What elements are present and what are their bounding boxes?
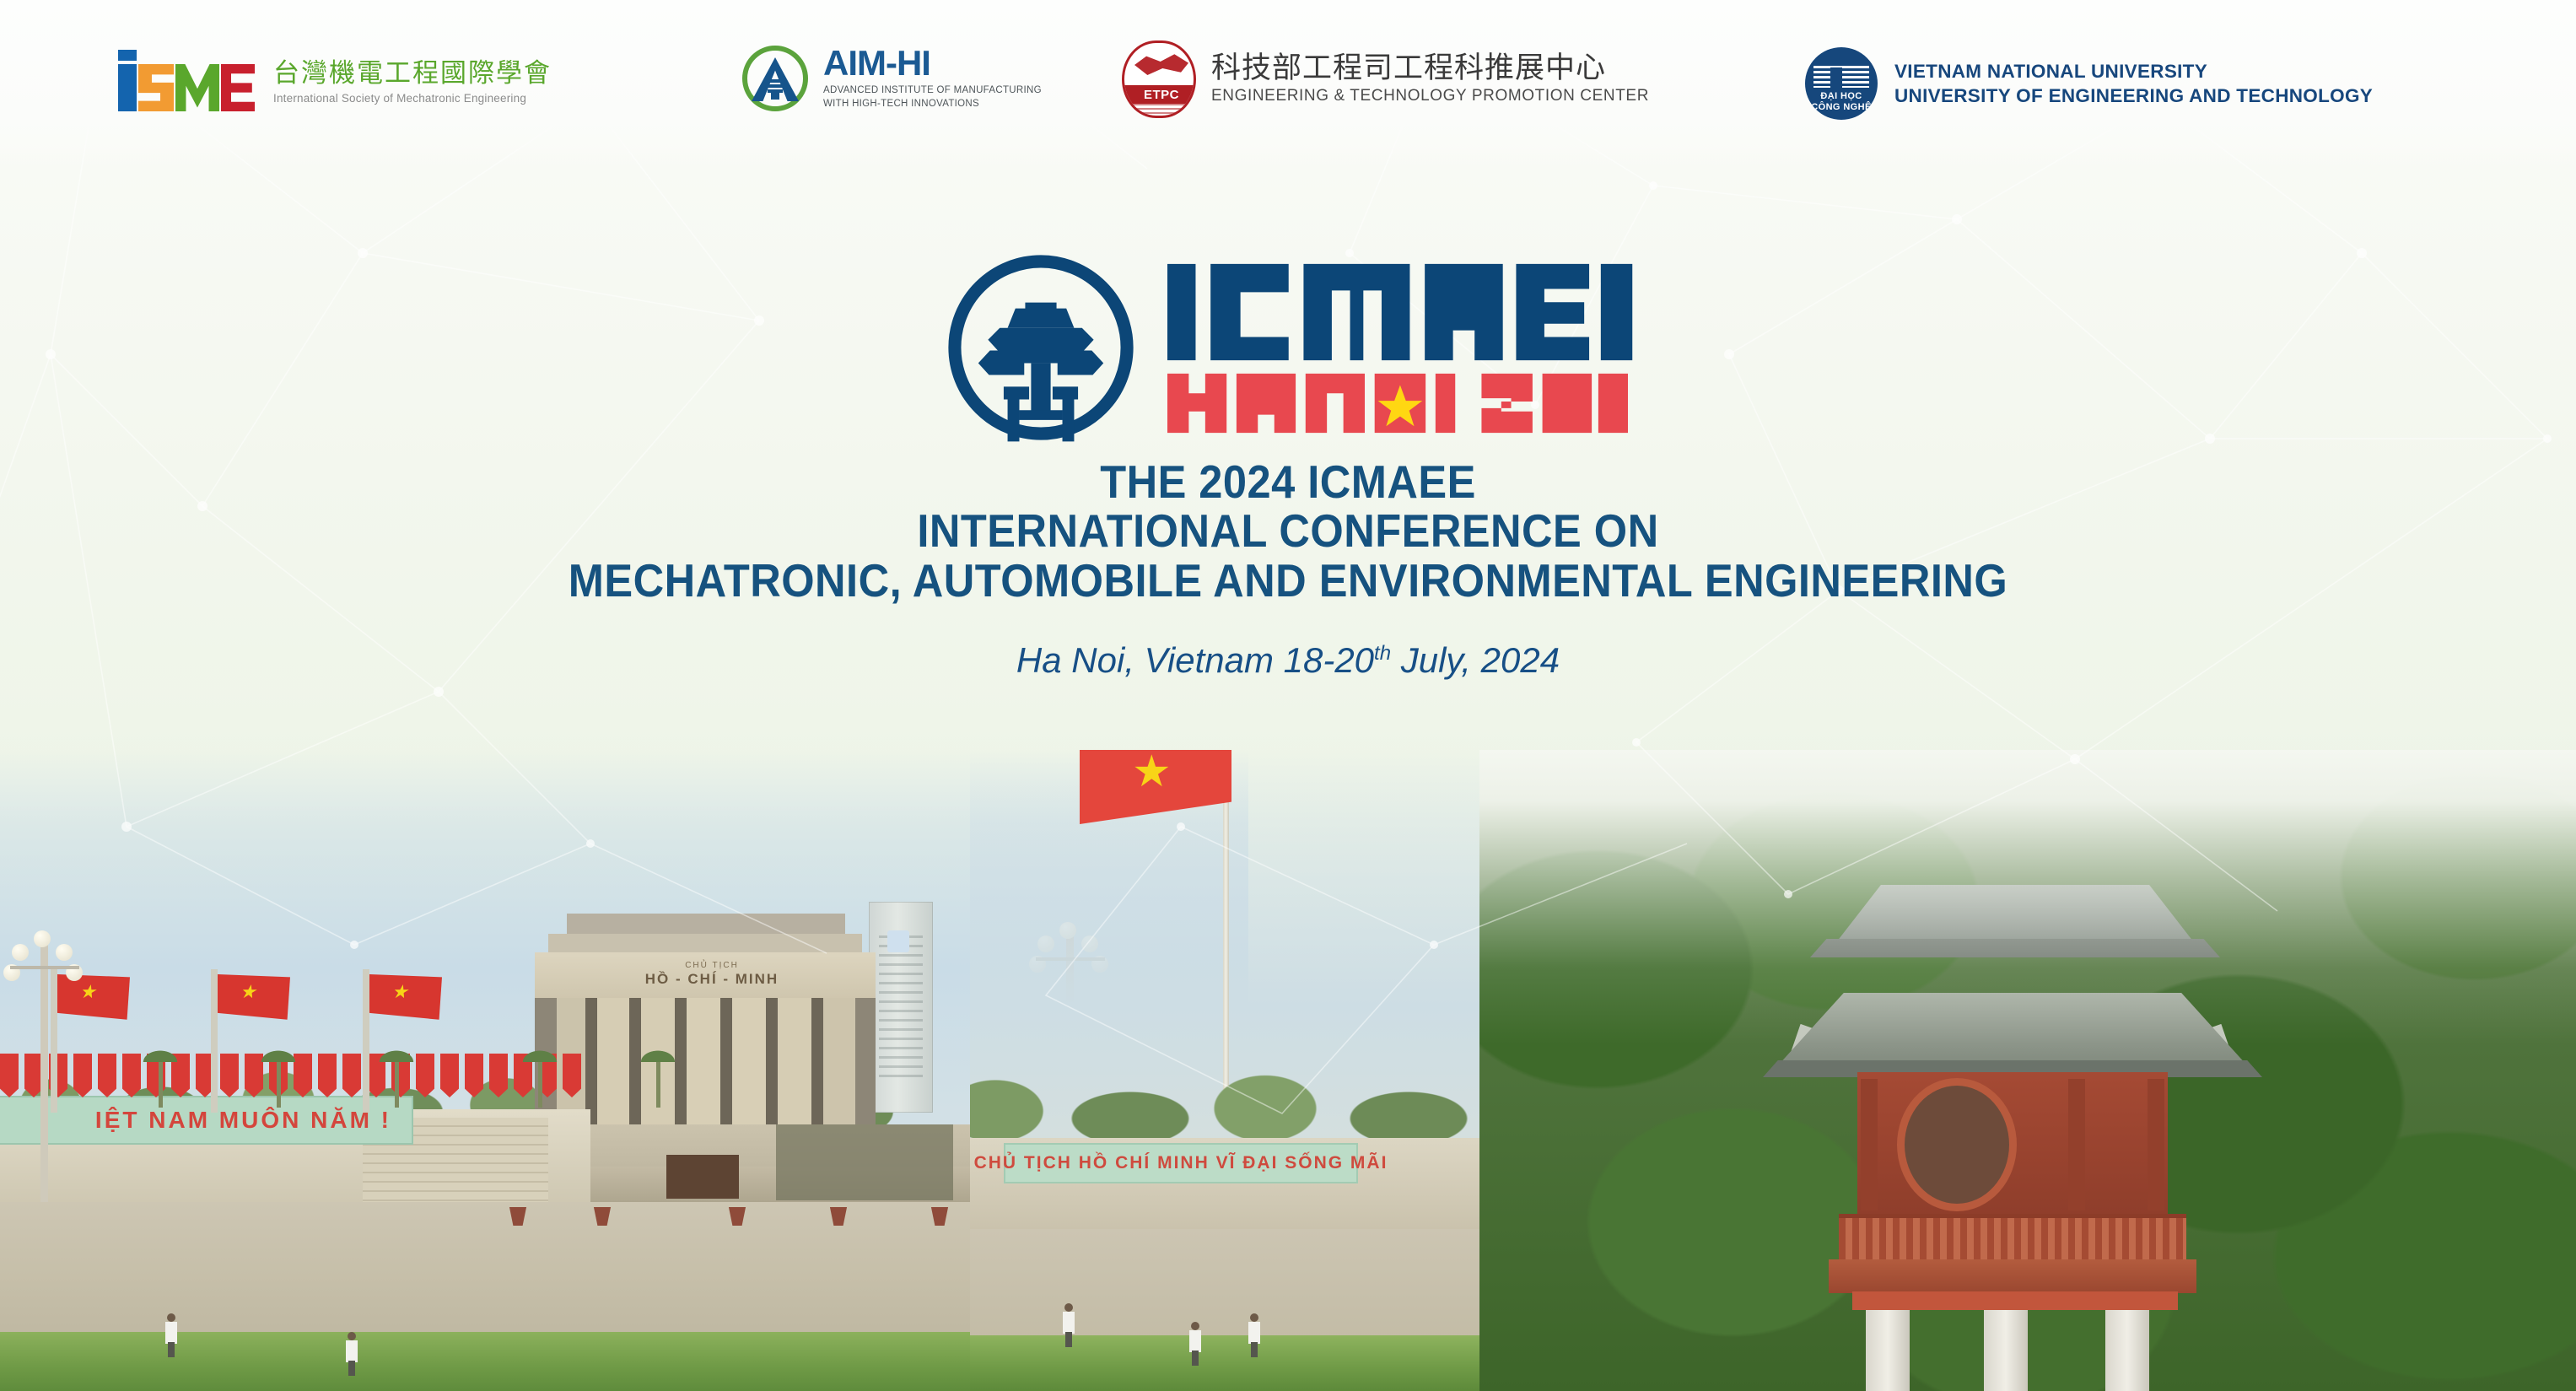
pedestrian bbox=[346, 1332, 358, 1376]
logo-etpc: ETPC 科技部工程司工程科推展中心 ENGINEERING & TECHNOL… bbox=[1122, 40, 1649, 118]
khue-van-cac-emblem-icon bbox=[943, 250, 1139, 445]
vnu-seal-icon: ĐẠI HỌC CÔNG NGHỆ bbox=[1805, 47, 1878, 120]
isme-letter-i bbox=[118, 64, 137, 111]
small-flag bbox=[563, 1054, 581, 1097]
photo-fade-overlay bbox=[1479, 750, 2576, 1391]
aim-hi-machine-icon bbox=[764, 78, 786, 100]
photo-khue-van-cac bbox=[1479, 750, 2576, 1391]
isme-mark-icon bbox=[118, 52, 255, 111]
vnu-name-line1: VIETNAM NATIONAL UNIVERSITY bbox=[1894, 61, 2373, 83]
title-line-3: MECHATRONIC, AUTOMOBILE AND ENVIRONMENTA… bbox=[103, 556, 2473, 605]
logo-isme: 台灣機電工程國際學會 International Society of Mech… bbox=[118, 52, 552, 111]
mausoleum-inscription-band: CHỦ TỊCH HỒ - CHÍ - MINH bbox=[535, 952, 876, 998]
small-flag bbox=[987, 1077, 1004, 1116]
etpc-text-block: 科技部工程司工程科推展中心 ENGINEERING & TECHNOLOGY P… bbox=[1211, 53, 1649, 106]
pedestrian bbox=[1063, 1303, 1075, 1347]
small-flag bbox=[440, 1054, 459, 1097]
sponsor-logo-bar: 台灣機電工程國際學會 International Society of Mech… bbox=[0, 0, 2576, 169]
slogan-banner-left: IỆT NAM MUÔN NĂM ! bbox=[0, 1096, 413, 1145]
etpc-seal-band: ETPC bbox=[1124, 85, 1196, 104]
page-title: THE 2024 ICMAEE INTERNATIONAL CONFERENCE… bbox=[0, 457, 2576, 605]
hanoi-2024-text-icon bbox=[1167, 370, 1628, 436]
etpc-english-name: ENGINEERING & TECHNOLOGY PROMOTION CENTE… bbox=[1211, 87, 1649, 105]
small-flag bbox=[987, 1116, 1004, 1155]
vnu-text-block: VIETNAM NATIONAL UNIVERSITY UNIVERSITY O… bbox=[1894, 61, 2373, 107]
isme-chinese-name: 台灣機電工程國際學會 bbox=[273, 59, 552, 88]
small-flag bbox=[318, 1054, 337, 1097]
slogan-banner-middle: CHỦ TỊCH HỒ CHÍ MINH VĨ ĐẠI SỐNG MÃI bbox=[1004, 1143, 1358, 1183]
aim-hi-tagline-line1: ADVANCED INSTITUTE OF MANUFACTURING bbox=[823, 84, 1042, 98]
flag-pole-small-3 bbox=[363, 969, 369, 1113]
aim-hi-text-block: AIM-HI ADVANCED INSTITUTE OF MANUFACTURI… bbox=[823, 46, 1042, 111]
small-flag bbox=[220, 1054, 239, 1097]
mausoleum-inscription-line1: CHỦ TỊCH bbox=[636, 961, 788, 970]
lamp-arm bbox=[10, 966, 79, 969]
small-flag bbox=[987, 1155, 1004, 1194]
title-line-2: INTERNATIONAL CONFERENCE ON bbox=[103, 506, 2473, 555]
isme-letter-m bbox=[175, 64, 219, 111]
small-flag bbox=[987, 1194, 1004, 1232]
aim-hi-tagline: ADVANCED INSTITUTE OF MANUFACTURING WITH… bbox=[823, 84, 1042, 111]
pedestrian bbox=[1248, 1313, 1260, 1357]
date-ordinal-suffix: th bbox=[1374, 642, 1391, 665]
mausoleum-roof-upper bbox=[567, 914, 845, 935]
flag-pole-small-2 bbox=[211, 969, 218, 1113]
date-prefix: Ha Noi, Vietnam 18-20 bbox=[1016, 640, 1374, 680]
etpc-seal-icon: ETPC bbox=[1122, 40, 1196, 118]
small-flag bbox=[465, 1054, 483, 1097]
etpc-chinese-name: 科技部工程司工程科推展中心 bbox=[1211, 53, 1649, 85]
etpc-seal-text: ETPC bbox=[1144, 88, 1179, 102]
mausoleum-roof-lower bbox=[548, 934, 862, 954]
photo-collage: CHỦ TỊCH HỒ - CHÍ - MINH IỆT NAM MUÔN NĂ… bbox=[0, 750, 2576, 1391]
aim-hi-name: AIM-HI bbox=[823, 46, 1042, 81]
vnu-seal-line1: ĐẠI HỌC bbox=[1820, 91, 1862, 101]
mausoleum-entrance bbox=[666, 1155, 739, 1199]
small-flag bbox=[342, 1054, 361, 1097]
icmaee-text-icon bbox=[1167, 259, 1632, 365]
conference-banner: CHỦ TỊCH HỒ - CHÍ - MINH IỆT NAM MUÔN NĂ… bbox=[0, 0, 2576, 1391]
mausoleum-inscription-line2: HỒ - CHÍ - MINH bbox=[619, 971, 805, 988]
isme-text-block: 台灣機電工程國際學會 International Society of Mech… bbox=[273, 59, 552, 104]
logo-vnu-uet: ĐẠI HỌC CÔNG NGHỆ VIETNAM NATIONAL UNIVE… bbox=[1805, 47, 2373, 120]
aim-hi-mark-icon bbox=[742, 46, 808, 111]
handshake-icon bbox=[1134, 51, 1188, 85]
aim-hi-tagline-line2: WITH HIGH-TECH INNOVATIONS bbox=[823, 98, 1042, 111]
title-line-1: THE 2024 ICMAEE bbox=[103, 457, 2473, 506]
isme-letter-e bbox=[221, 64, 255, 111]
flag-row-middle bbox=[987, 1077, 1510, 1145]
etpc-seal-arcs bbox=[1124, 104, 1196, 118]
small-flag bbox=[98, 1054, 116, 1097]
date-suffix: July, 2024 bbox=[1391, 640, 1560, 680]
tower-sign bbox=[887, 930, 909, 952]
small-flag bbox=[0, 1054, 19, 1097]
icmaee-wordmark bbox=[1167, 259, 1632, 436]
icmaee-logo bbox=[0, 250, 2576, 445]
slogan-banner-left-text: IỆT NAM MUÔN NĂM ! bbox=[95, 1107, 391, 1134]
lamp-globes bbox=[5, 930, 84, 991]
logo-aim-hi: AIM-HI ADVANCED INSTITUTE OF MANUFACTURI… bbox=[742, 46, 1042, 111]
vnu-seal-line2: CÔNG NGHỆ bbox=[1811, 102, 1871, 112]
isme-english-name: International Society of Mechatronic Eng… bbox=[273, 92, 552, 105]
small-flag bbox=[73, 1054, 92, 1097]
slogan-banner-middle-text: CHỦ TỊCH HỒ CHÍ MINH VĨ ĐẠI SỐNG MÃI bbox=[974, 1153, 1388, 1173]
vnu-name-line2: UNIVERSITY OF ENGINEERING AND TECHNOLOGY bbox=[1894, 85, 2373, 107]
pedestrian bbox=[1189, 1322, 1201, 1366]
event-date-location: Ha Noi, Vietnam 18-20th July, 2024 bbox=[0, 640, 2576, 681]
mausoleum-shadow-right bbox=[776, 1124, 953, 1200]
pedestrian bbox=[165, 1313, 177, 1357]
isme-letter-s bbox=[138, 64, 174, 111]
small-flag bbox=[489, 1054, 508, 1097]
hero-block: THE 2024 ICMAEE INTERNATIONAL CONFERENCE… bbox=[0, 250, 2576, 681]
